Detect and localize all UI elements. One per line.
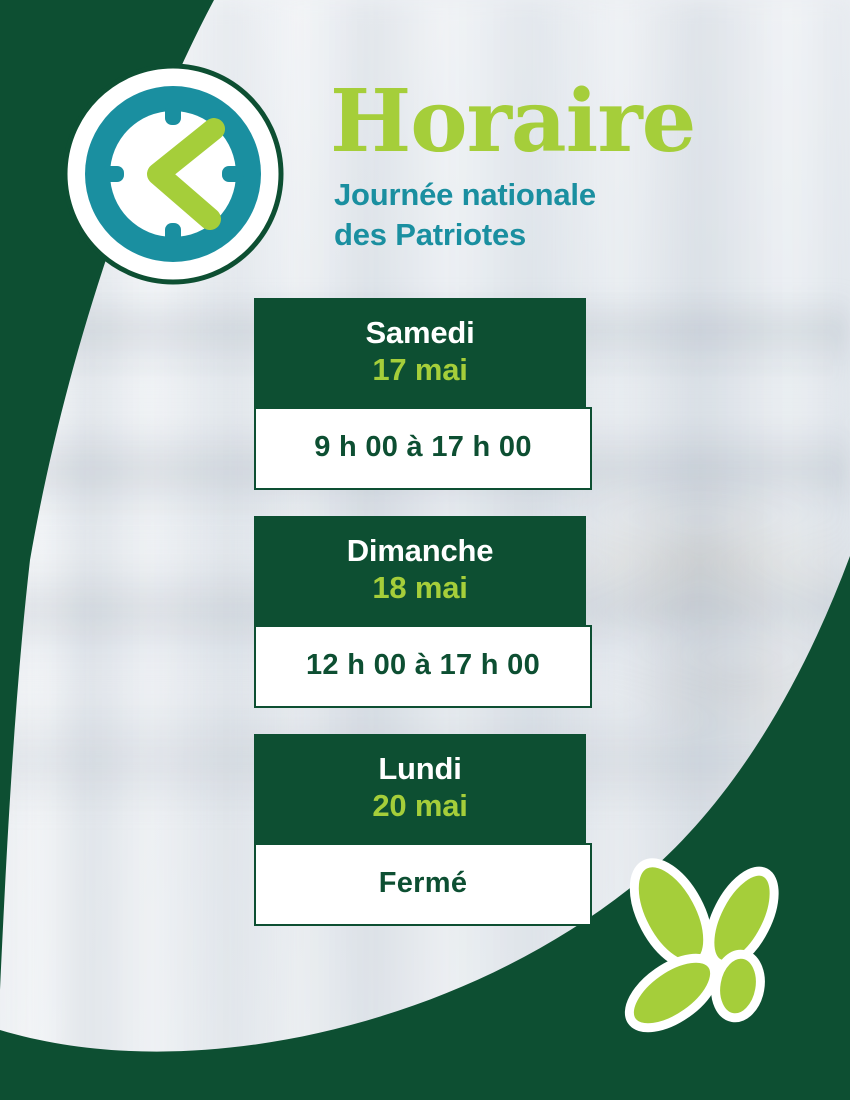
schedule-card-samedi: Samedi 17 mai 9 h 00 à 17 h 00 (254, 298, 592, 490)
card-day-label: Samedi (264, 315, 576, 352)
subtitle-line-2: des Patriotes (334, 215, 750, 255)
card-day-label: Lundi (264, 751, 576, 788)
poster-header: Horaire Journée nationale des Patriotes (330, 82, 750, 255)
card-day-label: Dimanche (264, 533, 576, 570)
page-title: Horaire (330, 82, 750, 163)
card-date-label: 17 mai (264, 352, 576, 389)
card-body: Fermé (254, 843, 592, 926)
card-header: Dimanche 18 mai (254, 516, 586, 625)
poster-canvas: Horaire Journée nationale des Patriotes … (0, 0, 850, 1100)
card-hours-label: 9 h 00 à 17 h 00 (266, 431, 580, 464)
clock-icon (62, 63, 284, 285)
card-header: Lundi 20 mai (254, 734, 586, 843)
subtitle-line-1: Journée nationale (334, 175, 750, 215)
schedule-card-lundi: Lundi 20 mai Fermé (254, 734, 592, 926)
schedule-list: Samedi 17 mai 9 h 00 à 17 h 00 Dimanche … (254, 298, 592, 926)
card-hours-label: 12 h 00 à 17 h 00 (266, 649, 580, 682)
schedule-card-dimanche: Dimanche 18 mai 12 h 00 à 17 h 00 (254, 516, 592, 708)
card-date-label: 20 mai (264, 788, 576, 825)
page-subtitle: Journée nationale des Patriotes (334, 175, 750, 256)
card-date-label: 18 mai (264, 570, 576, 607)
butterfly-logo-icon (614, 852, 804, 1047)
card-hours-label: Fermé (266, 867, 580, 900)
card-body: 12 h 00 à 17 h 00 (254, 625, 592, 708)
card-body: 9 h 00 à 17 h 00 (254, 407, 592, 490)
card-header: Samedi 17 mai (254, 298, 586, 407)
